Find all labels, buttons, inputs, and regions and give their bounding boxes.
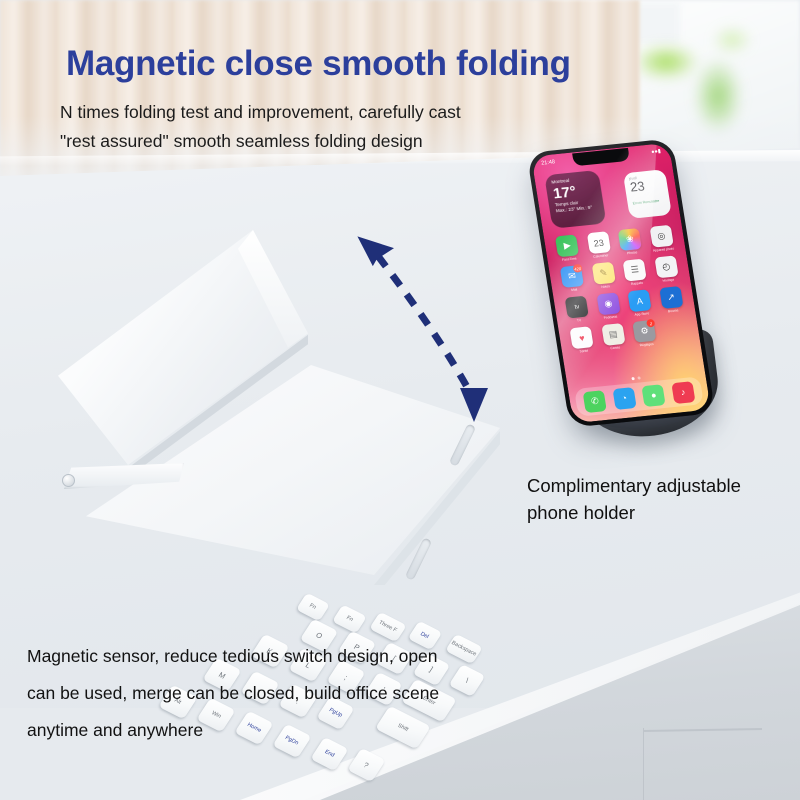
app-store-icon: A xyxy=(628,289,652,312)
facetime-icon: ▶ xyxy=(555,234,579,257)
arrow-head-down xyxy=(460,388,488,422)
app-grid: ▶FaceTime 23Calendrier ❀Photos ◎Appareil… xyxy=(552,224,692,354)
phone-with-holder: 21:48 ●●▮ Montreal 17° Temps clair Max.:… xyxy=(540,140,760,470)
header-subtext: N times folding test and improvement, ca… xyxy=(60,98,461,156)
folding-motion-arrow xyxy=(350,228,510,428)
notes-icon: ✎ xyxy=(591,262,615,285)
header-subtext-line1: N times folding test and improvement, ca… xyxy=(60,98,461,127)
podcasts-icon: ◉ xyxy=(596,292,620,315)
page-dot-active xyxy=(631,377,634,380)
status-icons: ●●▮ xyxy=(651,148,662,155)
messages-icon[interactable]: ● xyxy=(642,384,666,407)
app-icon[interactable]: ✉420Mail xyxy=(557,265,588,293)
safari-icon[interactable]: ◔ xyxy=(612,387,636,410)
status-time: 21:48 xyxy=(541,159,556,166)
footer-line1: Magnetic sensor, reduce tedious switch d… xyxy=(27,638,439,675)
app-icon[interactable]: ✎Notes xyxy=(588,261,619,289)
keyboard-hinge-pin xyxy=(62,474,75,487)
apple-tv-icon: tv xyxy=(565,296,589,319)
app-icon[interactable]: ◴Horloge xyxy=(651,255,682,283)
app-icon[interactable]: ♥Santé xyxy=(566,326,597,354)
holder-caption-line2: phone holder xyxy=(527,499,741,526)
calendar-day: 23 xyxy=(629,178,663,195)
smartphone: 21:48 ●●▮ Montreal 17° Temps clair Max.:… xyxy=(527,138,716,427)
app-icon[interactable]: AApp Store xyxy=(624,289,655,317)
clock-icon: ◴ xyxy=(654,255,678,278)
phone-screen: 21:48 ●●▮ Montreal 17° Temps clair Max.:… xyxy=(531,143,711,424)
maps-icon: ▤ xyxy=(601,323,625,346)
calendar-widget[interactable]: jeudi 23 Envoi Rencontre xyxy=(623,169,672,219)
app-icon[interactable]: ↗Bourse xyxy=(656,286,687,314)
phone-app-icon[interactable]: ✆ xyxy=(583,390,607,413)
app-icon[interactable]: ◉Podcasts xyxy=(593,292,624,320)
holder-caption-line1: Complimentary adjustable xyxy=(527,472,741,499)
app-icon[interactable]: ▶FaceTime xyxy=(552,234,583,262)
arrow-head-up xyxy=(357,230,396,267)
arrow-dashed-curve xyxy=(378,256,472,396)
app-icon[interactable]: ❀Photos xyxy=(615,228,646,256)
photos-icon: ❀ xyxy=(618,228,642,251)
app-icon[interactable]: ◎Appareil photo xyxy=(646,224,677,252)
app-icon[interactable]: ▤Cartes xyxy=(598,323,629,351)
stocks-icon: ↗ xyxy=(659,286,683,309)
phone-holder-caption: Complimentary adjustable phone holder xyxy=(527,472,741,526)
camera-icon: ◎ xyxy=(649,225,673,248)
reminders-icon: ☰ xyxy=(623,259,647,282)
product-marketing-image: Magnetic close smooth folding N times fo… xyxy=(0,0,800,800)
app-icon[interactable]: ⚙2Réglages xyxy=(629,320,660,348)
health-icon: ♥ xyxy=(570,326,594,349)
calendar-icon: 23 xyxy=(587,231,611,254)
mail-icon: ✉420 xyxy=(560,265,584,288)
footer-line2: can be used, merge can be closed, build … xyxy=(27,675,439,712)
music-icon[interactable]: ♪ xyxy=(671,381,695,404)
app-icon[interactable]: ☰Rappels xyxy=(620,258,651,286)
header-subtext-line2: "rest assured" smooth seamless folding d… xyxy=(60,127,461,156)
app-icon[interactable]: tvTV xyxy=(562,295,593,323)
page-dot xyxy=(637,376,640,379)
settings-badge: 2 xyxy=(646,319,655,328)
phone-dock: ✆ ◔ ● ♪ xyxy=(574,376,704,416)
weather-widget[interactable]: Montreal 17° Temps clair Max.: 23° Min.:… xyxy=(544,170,606,229)
drawer-seam-vertical xyxy=(643,728,645,800)
settings-icon: ⚙2 xyxy=(632,320,656,343)
mail-badge: 420 xyxy=(572,264,583,273)
footer-description: Magnetic sensor, reduce tedious switch d… xyxy=(27,638,439,749)
calendar-event: Envoi Rencontre xyxy=(632,198,665,205)
app-icon[interactable]: 23Calendrier xyxy=(583,231,614,259)
phone-notch xyxy=(572,148,630,167)
footer-line3: anytime and anywhere xyxy=(27,712,439,749)
home-screen-page-dots[interactable] xyxy=(631,376,640,380)
page-headline: Magnetic close smooth folding xyxy=(66,44,571,84)
